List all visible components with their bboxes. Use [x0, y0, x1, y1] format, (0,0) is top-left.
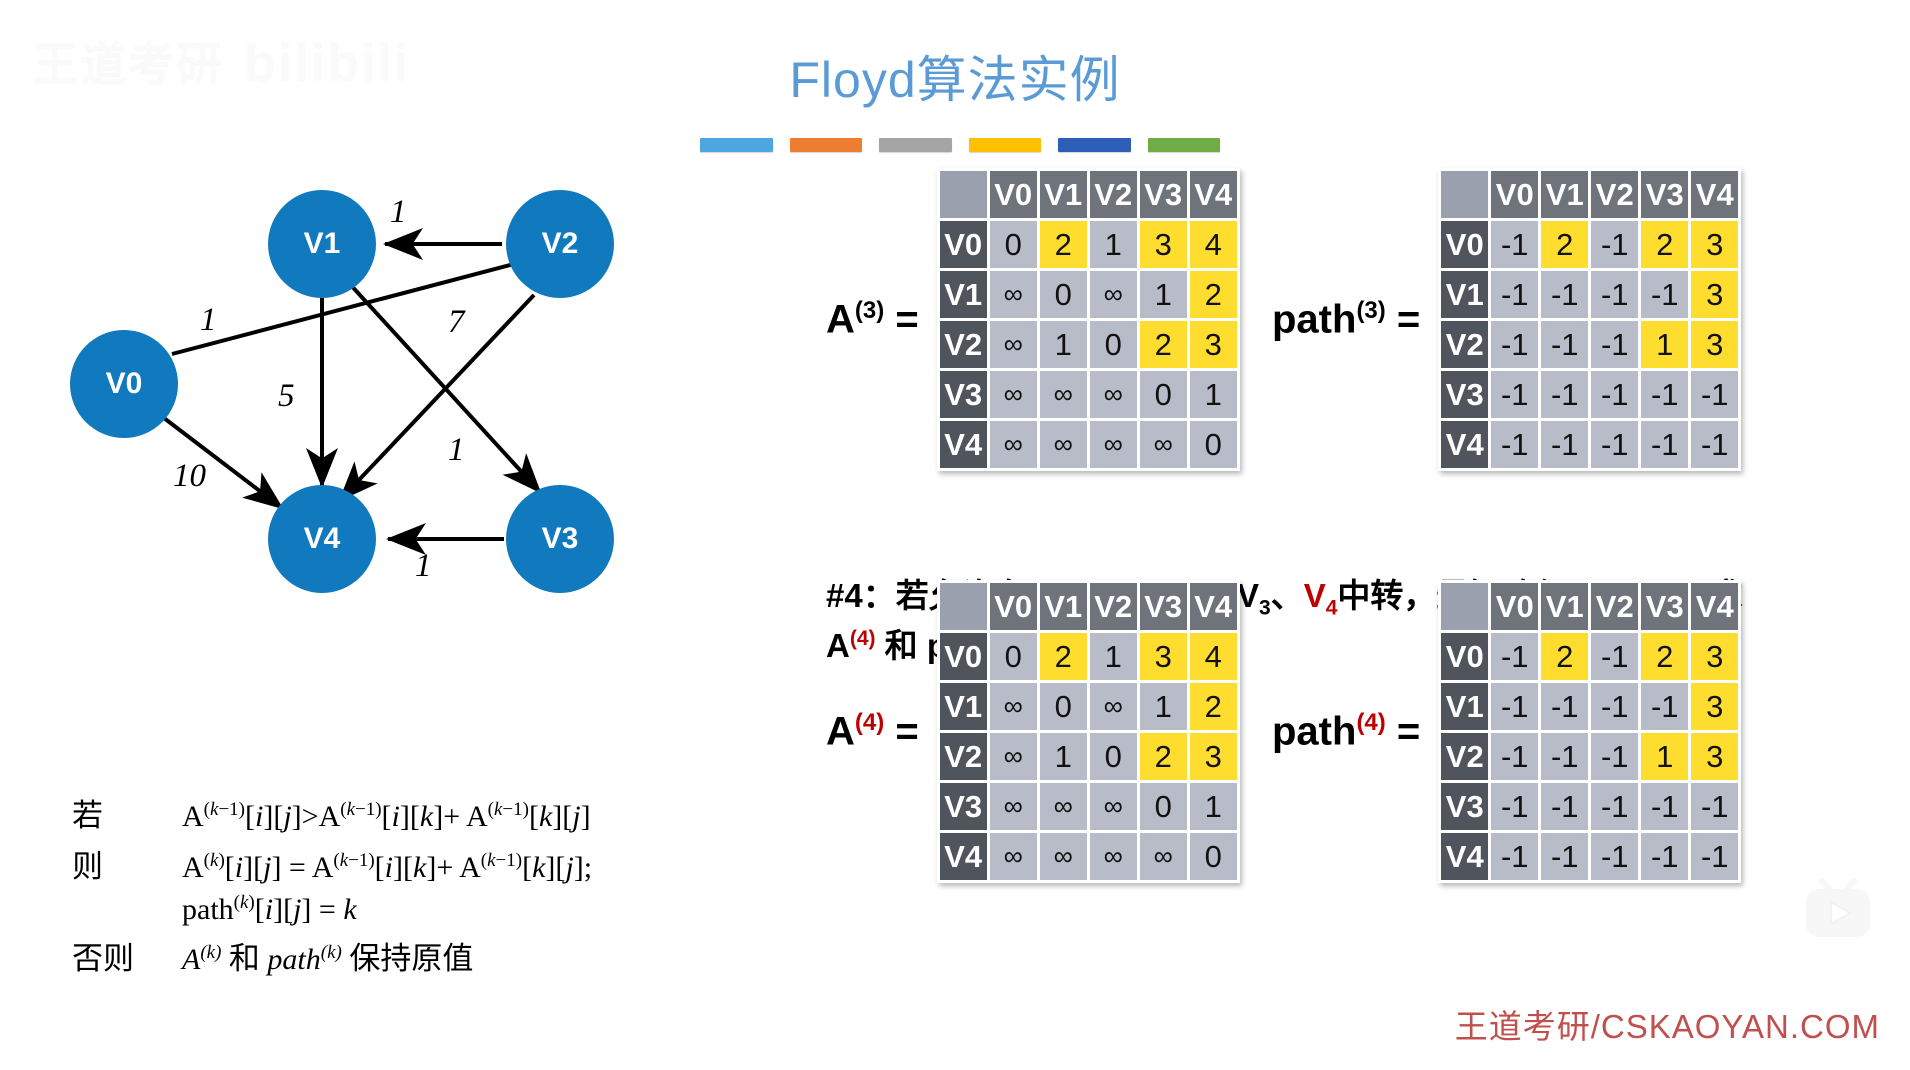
- graph-node-v0[interactable]: V0: [70, 330, 178, 438]
- matrix-cell: -1: [1541, 421, 1588, 468]
- matrix-row-header: V4: [1441, 421, 1488, 468]
- matrix-cell: ∞: [1040, 371, 1087, 418]
- matrix-cell: 0: [1140, 783, 1187, 830]
- matrix-row-header: V1: [1441, 271, 1488, 318]
- matrix-path4: V0V1V2V3V4V0-12-123V1-1-1-1-13V2-1-1-113…: [1438, 580, 1741, 883]
- matrix-cell: 0: [1040, 683, 1087, 730]
- matrix-col-header: V4: [1691, 171, 1738, 218]
- matrix-cell: 1: [1190, 371, 1237, 418]
- matrix-corner-cell: [1441, 171, 1488, 218]
- matrix-cell: 4: [1190, 633, 1237, 680]
- matrix-cell: 3: [1691, 221, 1738, 268]
- matrix-cell: 1: [1090, 221, 1137, 268]
- matrix-cell: -1: [1541, 683, 1588, 730]
- matrix-corner-cell: [940, 171, 987, 218]
- matrix-cell: -1: [1491, 421, 1538, 468]
- matrix-row: V2∞1023: [940, 733, 1237, 780]
- matrix-cell: -1: [1591, 783, 1638, 830]
- matrix-col-header: V0: [990, 171, 1037, 218]
- matrix-cell: -1: [1491, 783, 1538, 830]
- matrix-cell: -1: [1491, 633, 1538, 680]
- matrix-cell: ∞: [990, 371, 1037, 418]
- color-bar-5: [1058, 138, 1131, 152]
- formula-expr-4: A(k) 和 path(k) 保持原值: [182, 933, 473, 978]
- matrix-label-a4: A(4) =: [826, 709, 919, 754]
- matrix-row-header: V2: [1441, 733, 1488, 780]
- matrix-row-header: V1: [1441, 683, 1488, 730]
- matrix-row: V2-1-1-113: [1441, 321, 1738, 368]
- matrix-row-header: V2: [1441, 321, 1488, 368]
- matrix-row: V0-12-123: [1441, 633, 1738, 680]
- formula-cond-then: 则: [72, 841, 182, 886]
- matrix-cell: ∞: [1090, 783, 1137, 830]
- edge-weight-v0-v4: 10: [173, 458, 206, 495]
- formula-expr-1: A(k−1)[i][j]>A(k−1)[i][k]+ A(k−1)[k][j]: [182, 799, 591, 834]
- matrix-path3: V0V1V2V3V4V0-12-123V1-1-1-1-13V2-1-1-113…: [1438, 168, 1741, 471]
- matrix-col-header: V3: [1140, 583, 1187, 630]
- footer-branding: 王道考研/CSKAOYAN.COM: [1455, 1000, 1880, 1048]
- matrix-cell: 1: [1140, 271, 1187, 318]
- matrix-row-header: V3: [940, 783, 987, 830]
- edge-weight-v1-v3: 1: [448, 432, 465, 469]
- matrix-col-header: V1: [1040, 171, 1087, 218]
- matrix-cell: -1: [1591, 271, 1638, 318]
- matrix-cell: 1: [1140, 683, 1187, 730]
- matrix-cell: -1: [1591, 371, 1638, 418]
- matrix-cell: 3: [1691, 321, 1738, 368]
- color-bar-1: [700, 138, 773, 152]
- matrix-cell: -1: [1491, 833, 1538, 880]
- matrix-cell: 2: [1190, 683, 1237, 730]
- matrix-row: V1-1-1-1-13: [1441, 271, 1738, 318]
- matrix-cell: -1: [1641, 833, 1688, 880]
- matrix-col-header: V2: [1090, 583, 1137, 630]
- graph-node-v1[interactable]: V1: [268, 190, 376, 298]
- formula-line-1: 若 A(k−1)[i][j]>A(k−1)[i][k]+ A(k−1)[k][j…: [72, 790, 592, 835]
- matrix-col-header: V0: [990, 583, 1037, 630]
- matrix-cell: ∞: [990, 421, 1037, 468]
- matrix-label-path3: path(3) =: [1272, 297, 1420, 342]
- matrix-cell: 0: [1040, 271, 1087, 318]
- matrix-col-header: V4: [1691, 583, 1738, 630]
- matrix-cell: 1: [1040, 733, 1087, 780]
- matrix-cell: -1: [1541, 371, 1588, 418]
- matrix-cell: 2: [1040, 633, 1087, 680]
- matrix-row: V002134: [940, 221, 1237, 268]
- matrix-cell: -1: [1541, 783, 1588, 830]
- matrix-cell: 3: [1140, 633, 1187, 680]
- formula-keep-original: 保持原值: [349, 941, 473, 976]
- matrix-cell: -1: [1641, 783, 1688, 830]
- matrix-col-header: V2: [1090, 171, 1137, 218]
- matrix-cell: -1: [1491, 683, 1538, 730]
- matrix-label-a4-sup: (4): [855, 709, 884, 736]
- matrix-cell: 0: [1190, 833, 1237, 880]
- graph-node-v2[interactable]: V2: [506, 190, 614, 298]
- matrix-cell: 0: [1090, 733, 1137, 780]
- matrix-label-path4-sup: (4): [1356, 709, 1385, 736]
- formula-and-word-1: 和: [229, 941, 260, 976]
- formula-expr-3: path(k)[i][j] = k: [182, 892, 357, 927]
- matrix-cell: 2: [1541, 221, 1588, 268]
- matrix-cell: ∞: [1040, 833, 1087, 880]
- matrix-label-a3: A(3) =: [826, 297, 919, 342]
- floyd-formula-block: 若 A(k−1)[i][j]>A(k−1)[i][k]+ A(k−1)[k][j…: [72, 790, 592, 984]
- matrix-row: V3-1-1-1-1-1: [1441, 371, 1738, 418]
- matrix-row: V3∞∞∞01: [940, 783, 1237, 830]
- matrix-row: V4-1-1-1-1-1: [1441, 833, 1738, 880]
- matrix-label-path4: path(4) =: [1272, 709, 1420, 754]
- matrix-row-header: V3: [940, 371, 987, 418]
- matrix-row: V4∞∞∞∞0: [940, 421, 1237, 468]
- matrix-col-header: V1: [1541, 171, 1588, 218]
- matrix-cell: -1: [1541, 733, 1588, 780]
- matrix-group-path4: path(4) = V0V1V2V3V4V0-12-123V1-1-1-1-13…: [1272, 580, 1741, 883]
- matrix-cell: ∞: [1040, 421, 1087, 468]
- edge-v2-v4: [340, 295, 534, 500]
- matrix-row: V2∞1023: [940, 321, 1237, 368]
- matrix-cell: -1: [1541, 271, 1588, 318]
- matrix-cell: 0: [1190, 421, 1237, 468]
- matrix-cell: -1: [1691, 833, 1738, 880]
- matrix-col-header: V1: [1040, 583, 1087, 630]
- matrix-col-header: V0: [1491, 583, 1538, 630]
- bilibili-tv-icon: [1800, 878, 1876, 944]
- matrix-col-header: V4: [1190, 583, 1237, 630]
- matrix-col-header: V2: [1591, 171, 1638, 218]
- matrix-row-header: V4: [940, 833, 987, 880]
- matrix-cell: ∞: [1090, 271, 1137, 318]
- matrix-col-header: V3: [1140, 171, 1187, 218]
- formula-line-3: path(k)[i][j] = k: [72, 892, 592, 927]
- matrix-cell: 3: [1691, 271, 1738, 318]
- matrix-cell: ∞: [1090, 421, 1137, 468]
- matrix-row: V0-12-123: [1441, 221, 1738, 268]
- matrix-cell: 1: [1090, 633, 1137, 680]
- matrix-group-path3: path(3) = V0V1V2V3V4V0-12-123V1-1-1-1-13…: [1272, 168, 1741, 471]
- edge-weight-v1-v4: 5: [278, 378, 295, 415]
- matrix-col-header: V1: [1541, 583, 1588, 630]
- matrix-cell: 3: [1140, 221, 1187, 268]
- matrix-col-header: V0: [1491, 171, 1538, 218]
- matrix-a4: V0V1V2V3V4V002134V1∞0∞12V2∞1023V3∞∞∞01V4…: [937, 580, 1240, 883]
- matrix-row-header: V0: [940, 633, 987, 680]
- matrix-cell: 3: [1190, 321, 1237, 368]
- edge-weight-v0-v2: 1: [200, 302, 217, 339]
- formula-line-4: 否则 A(k) 和 path(k) 保持原值: [72, 933, 592, 978]
- matrix-cell: -1: [1491, 271, 1538, 318]
- matrix-a3: V0V1V2V3V4V002134V1∞0∞12V2∞1023V3∞∞∞01V4…: [937, 168, 1240, 471]
- matrix-cell: 2: [1140, 733, 1187, 780]
- formula-expr-2: A(k)[i][j] = A(k−1)[i][k]+ A(k−1)[k][j];: [182, 850, 592, 885]
- matrix-cell: 2: [1190, 271, 1237, 318]
- formula-cond-else: 否则: [72, 933, 182, 978]
- matrix-row-header: V0: [1441, 633, 1488, 680]
- matrix-path4-container: V0V1V2V3V4V0-12-123V1-1-1-1-13V2-1-1-113…: [1438, 580, 1741, 883]
- matrix-cell: 3: [1691, 633, 1738, 680]
- color-bar-2: [790, 138, 863, 152]
- matrix-cell: 1: [1641, 321, 1688, 368]
- matrix-cell: ∞: [1090, 683, 1137, 730]
- matrix-cell: -1: [1641, 271, 1688, 318]
- color-bar-6: [1148, 138, 1221, 152]
- matrix-row-header: V0: [1441, 221, 1488, 268]
- matrix-cell: ∞: [1090, 833, 1137, 880]
- color-bar-4: [969, 138, 1042, 152]
- matrix-row: V1∞0∞12: [940, 683, 1237, 730]
- matrix-cell: 0: [990, 633, 1037, 680]
- directed-graph-diagram: V0 V1 V2 V3 V4 1 1 5 7 1 10 1: [40, 170, 700, 630]
- matrix-cell: -1: [1591, 633, 1638, 680]
- matrix-row-header: V3: [1441, 371, 1488, 418]
- matrix-row-header: V2: [940, 733, 987, 780]
- matrix-cell: ∞: [990, 733, 1037, 780]
- matrix-row-header: V1: [940, 683, 987, 730]
- matrix-label-path3-sup: (3): [1356, 297, 1385, 324]
- question-node-v3: V3: [1237, 577, 1271, 614]
- matrix-row: V1∞0∞12: [940, 271, 1237, 318]
- matrix-cell: -1: [1541, 321, 1588, 368]
- matrix-cell: ∞: [1140, 833, 1187, 880]
- matrix-corner-cell: [940, 583, 987, 630]
- matrix-cell: 3: [1190, 733, 1237, 780]
- matrix-cell: 1: [1040, 321, 1087, 368]
- matrix-cell: ∞: [990, 321, 1037, 368]
- matrix-cell: -1: [1491, 371, 1538, 418]
- page-title: Floyd算法实例: [0, 40, 1910, 112]
- matrix-corner-cell: [1441, 583, 1488, 630]
- matrix-row: V1-1-1-1-13: [1441, 683, 1738, 730]
- matrix-cell: -1: [1641, 683, 1688, 730]
- matrix-cell: 0: [1140, 371, 1187, 418]
- matrix-cell: -1: [1491, 321, 1538, 368]
- matrix-cell: -1: [1691, 783, 1738, 830]
- matrix-cell: 2: [1641, 221, 1688, 268]
- matrix-cell: 0: [1090, 321, 1137, 368]
- matrix-row-header: V4: [1441, 833, 1488, 880]
- matrix-cell: 4: [1190, 221, 1237, 268]
- matrix-cell: ∞: [990, 833, 1037, 880]
- matrix-cell: -1: [1641, 421, 1688, 468]
- matrix-cell: -1: [1691, 371, 1738, 418]
- matrix-group-a3: A(3) = V0V1V2V3V4V002134V1∞0∞12V2∞1023V3…: [826, 168, 1240, 471]
- color-bar-3: [879, 138, 952, 152]
- matrix-cell: -1: [1591, 833, 1638, 880]
- matrix-label-a3-sup: (3): [855, 297, 884, 324]
- graph-node-v3[interactable]: V3: [506, 485, 614, 593]
- matrix-col-header: V3: [1641, 583, 1688, 630]
- matrix-row: V2-1-1-113: [1441, 733, 1738, 780]
- matrix-row: V3-1-1-1-1-1: [1441, 783, 1738, 830]
- matrix-cell: ∞: [1090, 371, 1137, 418]
- matrix-cell: ∞: [990, 683, 1037, 730]
- matrix-col-header: V2: [1591, 583, 1638, 630]
- graph-node-v4[interactable]: V4: [268, 485, 376, 593]
- matrix-row-header: V2: [940, 321, 987, 368]
- decorative-color-bars: [700, 138, 1220, 152]
- formula-cond-if: 若: [72, 790, 182, 835]
- edge-weight-v2-v1: 1: [390, 194, 407, 231]
- matrix-cell: -1: [1641, 371, 1688, 418]
- matrix-cell: -1: [1591, 421, 1638, 468]
- formula-line-2: 则 A(k)[i][j] = A(k−1)[i][k]+ A(k−1)[k][j…: [72, 841, 592, 886]
- matrix-row-header: V3: [1441, 783, 1488, 830]
- matrix-cell: 3: [1691, 733, 1738, 780]
- matrix-cell: 1: [1190, 783, 1237, 830]
- matrix-col-header: V4: [1190, 171, 1237, 218]
- edge-weight-v3-v4: 1: [415, 548, 432, 585]
- matrix-cell: 3: [1691, 683, 1738, 730]
- matrix-cell: -1: [1491, 221, 1538, 268]
- matrix-cell: 2: [1541, 633, 1588, 680]
- matrix-a3-container: V0V1V2V3V4V002134V1∞0∞12V2∞1023V3∞∞∞01V4…: [937, 168, 1240, 471]
- matrix-cell: ∞: [990, 783, 1037, 830]
- matrix-cell: ∞: [990, 271, 1037, 318]
- matrix-cell: -1: [1541, 833, 1588, 880]
- matrix-row-header: V0: [940, 221, 987, 268]
- matrix-path3-container: V0V1V2V3V4V0-12-123V1-1-1-1-13V2-1-1-113…: [1438, 168, 1741, 471]
- matrix-cell: -1: [1591, 321, 1638, 368]
- matrix-cell: 2: [1040, 221, 1087, 268]
- matrix-col-header: V3: [1641, 171, 1688, 218]
- matrix-cell: -1: [1591, 683, 1638, 730]
- matrix-cell: ∞: [1140, 421, 1187, 468]
- matrix-group-a4: A(4) = V0V1V2V3V4V002134V1∞0∞12V2∞1023V3…: [826, 580, 1240, 883]
- matrix-cell: -1: [1691, 421, 1738, 468]
- edge-weight-v2-v4: 7: [448, 304, 465, 341]
- matrix-row: V002134: [940, 633, 1237, 680]
- matrix-row: V4-1-1-1-1-1: [1441, 421, 1738, 468]
- matrix-cell: ∞: [1040, 783, 1087, 830]
- matrix-cell: 2: [1641, 633, 1688, 680]
- matrix-row-header: V1: [940, 271, 987, 318]
- matrix-cell: -1: [1591, 733, 1638, 780]
- matrix-cell: -1: [1591, 221, 1638, 268]
- matrix-cell: -1: [1491, 733, 1538, 780]
- matrix-a4-container: V0V1V2V3V4V002134V1∞0∞12V2∞1023V3∞∞∞01V4…: [937, 580, 1240, 883]
- matrix-row-header: V4: [940, 421, 987, 468]
- matrix-row: V4∞∞∞∞0: [940, 833, 1237, 880]
- matrix-cell: 1: [1641, 733, 1688, 780]
- matrix-cell: 0: [990, 221, 1037, 268]
- matrix-row: V3∞∞∞01: [940, 371, 1237, 418]
- matrix-cell: 2: [1140, 321, 1187, 368]
